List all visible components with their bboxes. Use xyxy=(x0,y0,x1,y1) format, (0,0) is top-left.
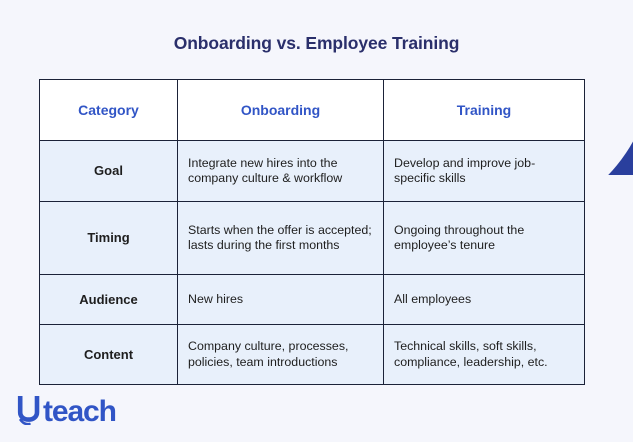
comparison-table: Category Onboarding Training Goal Integr… xyxy=(39,79,585,385)
cell-training: Develop and improve job-specific skills xyxy=(384,141,585,202)
cell-onboarding: Integrate new hires into the company cul… xyxy=(178,141,384,202)
cell-training: Ongoing throughout the employee’s tenure xyxy=(384,202,585,275)
table-row: Goal Integrate new hires into the compan… xyxy=(40,141,585,202)
cell-category: Timing xyxy=(40,202,178,275)
cell-onboarding: Starts when the offer is accepted; lasts… xyxy=(178,202,384,275)
table-row: Content Company culture, processes, poli… xyxy=(40,325,585,385)
table-row: Audience New hires All employees xyxy=(40,275,585,325)
page-title: Onboarding vs. Employee Training xyxy=(0,33,633,54)
cell-onboarding: Company culture, processes, policies, te… xyxy=(178,325,384,385)
brand-logo[interactable]: teach xyxy=(16,394,116,430)
cell-training: All employees xyxy=(384,275,585,325)
cell-category: Content xyxy=(40,325,178,385)
uteach-u-mark-icon xyxy=(16,394,42,430)
column-header-category: Category xyxy=(40,80,178,141)
cell-training: Technical skills, soft skills, complianc… xyxy=(384,325,585,385)
column-header-onboarding: Onboarding xyxy=(178,80,384,141)
table-header-row: Category Onboarding Training xyxy=(40,80,585,141)
table-header: Category Onboarding Training xyxy=(40,80,585,141)
cell-category: Audience xyxy=(40,275,178,325)
cell-onboarding: New hires xyxy=(178,275,384,325)
table-body: Goal Integrate new hires into the compan… xyxy=(40,141,585,385)
brand-wordmark: teach xyxy=(43,397,116,427)
table-row: Timing Starts when the offer is accepted… xyxy=(40,202,585,275)
cell-category: Goal xyxy=(40,141,178,202)
column-header-training: Training xyxy=(384,80,585,141)
